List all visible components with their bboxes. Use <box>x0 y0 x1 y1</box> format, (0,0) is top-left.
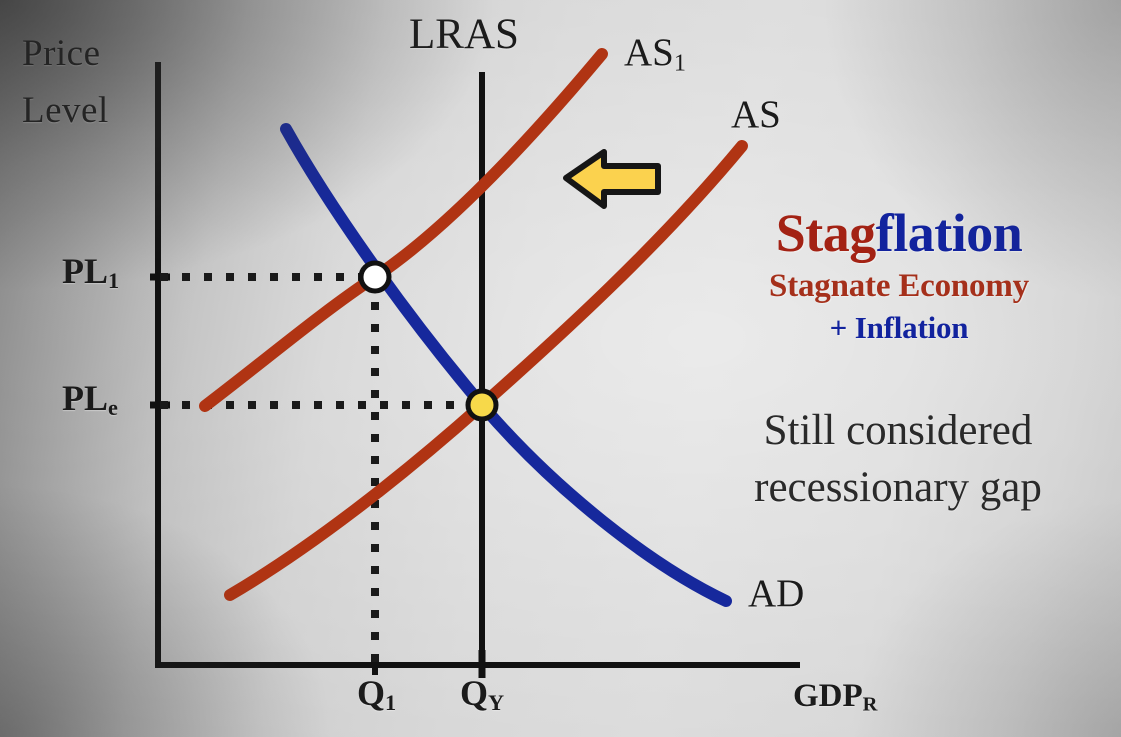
plus-inflation-label: + Inflation <box>690 310 1108 346</box>
as1-label-subscript: 1 <box>674 49 686 76</box>
equilibrium-point-original <box>468 391 496 419</box>
stagflation-title-stag: Stag <box>776 203 876 263</box>
diagram-canvas: Price Level GDPR LRAS AS1 AS AD PL1 PLe … <box>0 0 1121 737</box>
stagflation-callout: Stagflation Stagnate Economy + Inflation <box>690 205 1108 346</box>
x-tick-label-qy-subscript: Y <box>488 690 504 715</box>
ad-label: AD <box>748 571 804 616</box>
y-tick-label-pl1-subscript: 1 <box>108 268 119 293</box>
recessionary-gap-note: Still considered recessionary gap <box>678 402 1118 516</box>
y-tick-label-pl1-text: PL <box>62 251 108 291</box>
shift-left-arrow <box>566 152 658 206</box>
y-axis-title-line1: Price <box>22 32 101 75</box>
note-line-1: Still considered <box>678 402 1118 459</box>
y-axis-title-line2: Level <box>22 89 109 132</box>
x-axis-title: GDPR <box>793 678 877 717</box>
x-tick-label-q1-text: Q <box>357 673 385 713</box>
ad-as-plot <box>0 0 1121 737</box>
note-line-2: recessionary gap <box>678 459 1118 516</box>
as-curve <box>230 146 742 595</box>
x-tick-label-q1-subscript: 1 <box>385 690 396 715</box>
inflation-word: Inflation <box>855 310 969 345</box>
stagnate-economy-label: Stagnate Economy <box>690 268 1108 305</box>
as-label: AS <box>731 92 781 137</box>
x-tick-label-q1: Q1 <box>357 672 396 716</box>
y-tick-label-pl1: PL1 <box>62 250 119 294</box>
plus-sign: + <box>830 310 847 345</box>
equilibrium-point-new <box>361 263 389 291</box>
as1-label-text: AS <box>624 31 674 74</box>
lras-label: LRAS <box>409 10 519 59</box>
y-tick-label-ple: PLe <box>62 377 118 421</box>
stagflation-title-flation: flation <box>876 203 1023 263</box>
ad-curve <box>286 129 726 601</box>
x-tick-label-qy-text: Q <box>460 673 488 713</box>
y-tick-label-ple-subscript: e <box>108 395 118 420</box>
stagflation-title: Stagflation <box>690 205 1108 261</box>
x-axis-title-text: GDP <box>793 678 863 714</box>
x-tick-label-qy: QY <box>460 672 504 716</box>
x-axis-title-subscript: R <box>863 694 878 716</box>
as1-label: AS1 <box>624 30 686 77</box>
y-tick-label-ple-text: PL <box>62 378 108 418</box>
